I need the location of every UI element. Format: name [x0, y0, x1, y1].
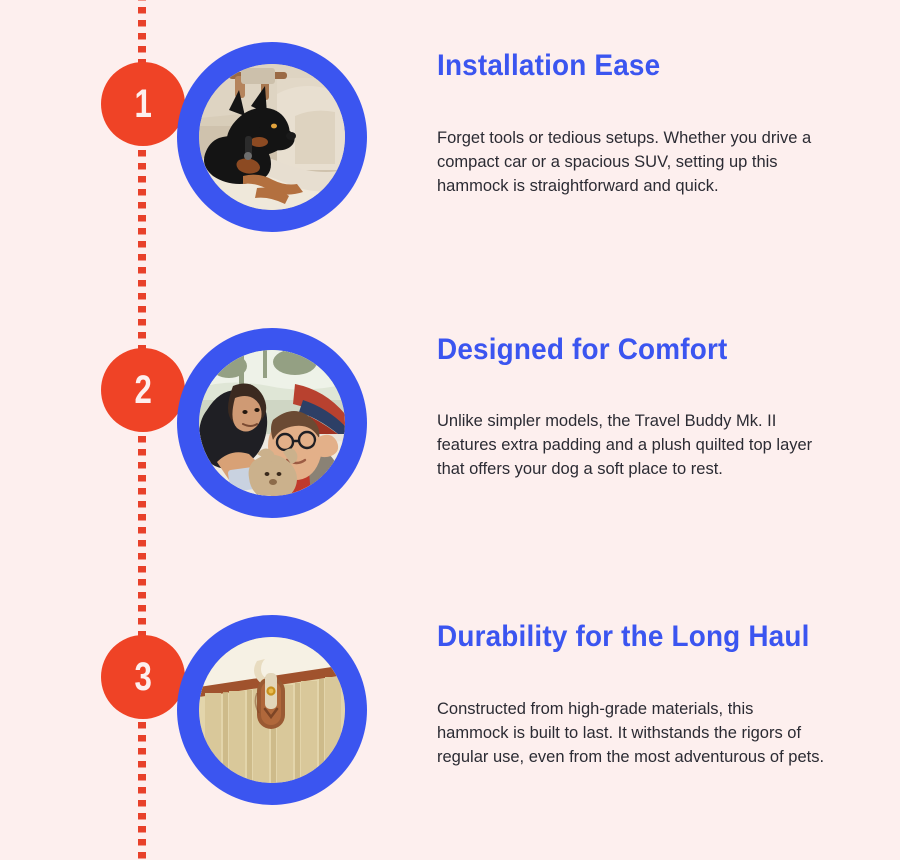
step-photo-2: [199, 350, 345, 496]
step-photo-3: [199, 637, 345, 783]
step-body-3: Constructed from high-grade materials, t…: [437, 697, 829, 769]
step-body-1: Forget tools or tedious setups. Whether …: [437, 126, 829, 198]
step-photo-ring-2: [177, 328, 367, 518]
couple-selfie-with-dog-illustration: [199, 350, 345, 496]
doberman-dog-illustration: [199, 64, 345, 210]
step-photo-ring-1: [177, 42, 367, 232]
step-heading-1: Installation Ease: [437, 50, 809, 82]
step-number-label-3: 3: [134, 657, 151, 697]
step-text-column-2: Designed for Comfort Unlike simpler mode…: [437, 334, 837, 481]
step-heading-2: Designed for Comfort: [437, 334, 809, 366]
step-photo-1: [199, 64, 345, 210]
step-text-column-3: Durability for the Long Haul Constructed…: [437, 621, 837, 769]
step-number-label-1: 1: [134, 84, 151, 124]
step-number-badge-1: 1: [101, 62, 185, 146]
infographic-canvas: 1: [0, 0, 900, 860]
step-number-badge-2: 2: [101, 348, 185, 432]
step-text-column-1: Installation Ease Forget tools or tediou…: [437, 50, 837, 198]
hammock-strap-buckle-illustration: [199, 637, 345, 783]
step-number-label-2: 2: [134, 370, 151, 410]
step-photo-ring-3: [177, 615, 367, 805]
step-heading-3: Durability for the Long Haul: [437, 621, 809, 653]
step-number-badge-3: 3: [101, 635, 185, 719]
step-body-2: Unlike simpler models, the Travel Buddy …: [437, 409, 829, 481]
